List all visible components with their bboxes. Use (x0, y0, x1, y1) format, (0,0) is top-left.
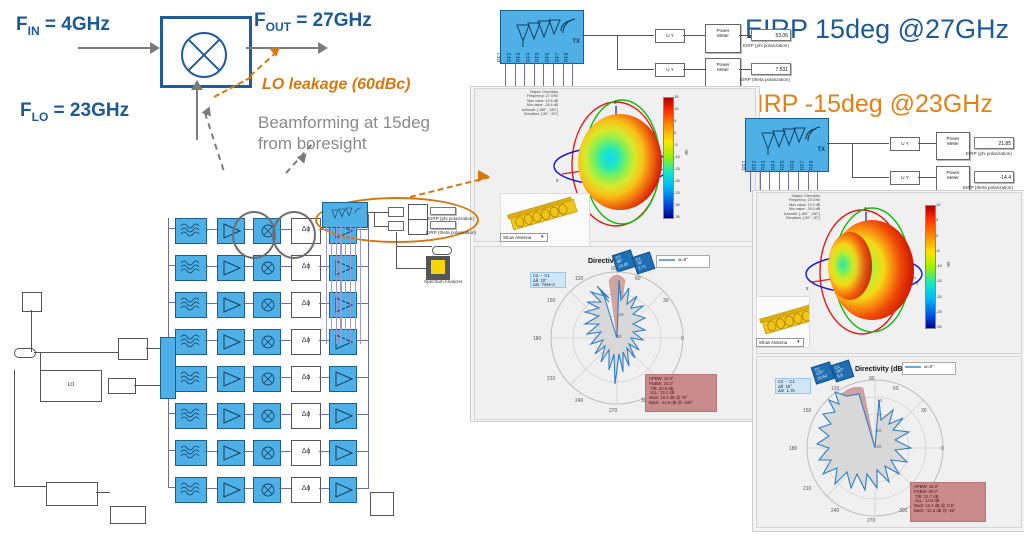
constant-block[interactable] (22, 292, 42, 312)
tx-port-rf7: RF7 (800, 161, 806, 170)
amplifier-block-row5[interactable] (217, 366, 245, 392)
wire-phase-amp2 (319, 377, 329, 378)
tx-port-rf2: RF2 (507, 53, 513, 62)
chevron-down-icon[interactable]: ▾ (541, 234, 544, 240)
svg-text:0: 0 (681, 336, 684, 342)
polar-legend-label-23: ø=0° (924, 364, 934, 369)
tx-port-rf6: RF6 (545, 53, 551, 62)
f-in-symbol: F (16, 14, 28, 35)
colorbar-tick: -5 (936, 248, 940, 253)
colorbar-tick: -15 (674, 166, 680, 171)
output-amplifier-row8[interactable] (329, 477, 357, 503)
power-meter-inline-2[interactable] (408, 219, 428, 235)
tx-port-rf8: RF8 (809, 161, 815, 170)
power-meter-label-2: Meter (706, 33, 740, 38)
wire-amp2-tx (355, 488, 369, 489)
tx-port-rf1: RF1 (497, 53, 503, 62)
wire-mixer-phase (279, 488, 291, 489)
tx-port-wire (779, 170, 780, 192)
tx-port-rf6: RF6 (790, 161, 796, 170)
wire-amp2-tx (355, 303, 369, 304)
eirp-display-inline-1 (430, 207, 456, 215)
filter-block-row1[interactable] (175, 218, 207, 244)
beamforming-note-line1: Beamforming at 15deg (258, 112, 430, 133)
filter-block-row4[interactable] (175, 329, 207, 355)
eirp-phi-display-23ghz: 21.85 (974, 137, 1014, 149)
phase-shifter-block-row8[interactable]: Δϕ (291, 477, 321, 503)
tx-inline-port-wire (326, 226, 327, 344)
demux-block[interactable] (160, 337, 176, 399)
wire-filter-amp (205, 303, 217, 304)
eirp-phi-caption-inline: EIRP (phi polarization) (428, 216, 474, 221)
svg-text:300: 300 (899, 508, 908, 514)
mixer-cross-circle-icon (181, 32, 227, 78)
wire-filter-amp (205, 377, 217, 378)
colorbar-tick: -30 (936, 324, 942, 329)
colorbar-tick: -10 (674, 154, 680, 159)
tx-port-wire (769, 170, 770, 192)
svg-text:90: 90 (611, 266, 617, 272)
wire-amp-mixer (243, 377, 253, 378)
lo-leakage-label: LO leakage (60dBc) (262, 76, 411, 94)
filter-block-row8[interactable] (175, 477, 207, 503)
f-out-arrow-head (318, 42, 328, 54)
tx-inline-port-wire (355, 226, 356, 344)
tx-input-ports: RF1RF2RF3RF4RF5RF6RF7RF8 (503, 42, 581, 62)
wire-phase-amp2 (319, 340, 329, 341)
wire-mixer-phase (279, 377, 291, 378)
svg-text:0: 0 (941, 446, 944, 452)
tx-port-rf3: RF3 (516, 53, 522, 62)
colorbar-unit-27: dBi (683, 150, 688, 156)
svg-text:60: 60 (893, 386, 899, 392)
f-in-label: FIN = 4GHz (16, 14, 110, 38)
wire-mixer-phase (279, 414, 291, 415)
colorbar-tick: 5 (674, 118, 676, 123)
output-amplifier-row6[interactable] (329, 403, 357, 429)
svg-text:180: 180 (789, 446, 798, 452)
mixer-block-row2[interactable] (253, 255, 281, 281)
svg-text:150: 150 (547, 298, 556, 304)
output-amplifier-row3[interactable] (329, 292, 357, 318)
svg-text:150: 150 (803, 408, 812, 414)
uy-selector-theta-23[interactable]: U Y (890, 171, 920, 185)
f-out-subscript: OUT (266, 20, 291, 34)
lo-source-label: LO (41, 382, 101, 388)
f-out-label: FOUT = 27GHz (254, 10, 372, 34)
eirp-theta-caption-inline: EIRP (theta polarization) (426, 230, 476, 235)
f-lo-arrow-line (196, 86, 198, 140)
f-lo-subscript: LO (32, 110, 49, 124)
wire-amp2-tx (355, 377, 369, 378)
polar-stats-27ghz: HPBW: 10.0° FNBW: 24.0° T/B: 20.5 dB SLL… (645, 374, 717, 412)
colorbar-tick: -25 (674, 190, 680, 195)
eirp-theta-display-23ghz: -14.4 (974, 171, 1014, 183)
tx-port-wire (750, 170, 751, 192)
spectrum-analyzer-label: Spectrum Analyzer (424, 279, 463, 284)
callout-arrow-to-panel (478, 170, 489, 182)
f-lo-symbol: F (20, 100, 32, 121)
lo-leakage-dash-2 (249, 51, 277, 77)
tx-port-rf5: RF5 (780, 161, 786, 170)
f-lo-label: FLO = 23GHz (20, 100, 129, 124)
filter-block-row3[interactable] (175, 292, 207, 318)
tx-out-branch (617, 35, 618, 69)
tx-input-ports: RF1RF2RF3RF4RF5RF6RF7RF8 (748, 150, 826, 170)
phase-shifter-label: Δϕ (292, 411, 320, 418)
tx-port-rf8: RF8 (564, 53, 570, 62)
tx-inline-port-wire (336, 226, 337, 344)
svg-text:270: 270 (867, 518, 876, 522)
svg-text:x: x (806, 286, 809, 292)
svg-text:-20: -20 (617, 312, 624, 317)
f-out-symbol: F (254, 10, 266, 31)
wire-amp-mixer (243, 266, 253, 267)
wire-phase-amp2 (319, 266, 329, 267)
svg-text:210: 210 (547, 376, 556, 382)
svg-text:120: 120 (831, 386, 840, 392)
wire-filter-amp (205, 266, 217, 267)
svg-text:-40: -40 (615, 334, 622, 339)
svg-text:240: 240 (575, 398, 584, 404)
tx-port-rf3: RF3 (761, 161, 767, 170)
wire-amp-mixer (243, 488, 253, 489)
amplifier-block-row7[interactable] (217, 440, 245, 466)
output-amplifier-row4[interactable] (329, 329, 357, 355)
mixer-block-row6[interactable] (253, 403, 281, 429)
terminator-block[interactable] (370, 492, 394, 516)
mixer-block-row8[interactable] (253, 477, 281, 503)
phase-shifter-label: Δϕ (292, 374, 320, 381)
phase-shifter-block-row3[interactable]: Δϕ (291, 292, 321, 318)
wire-phase-amp2 (319, 414, 329, 415)
svg-text:30: 30 (921, 408, 927, 414)
wire-filter-amp (205, 488, 217, 489)
wire-filter-amp (205, 414, 217, 415)
colorbar-tick: 10 (936, 202, 940, 207)
tx-port-wire (808, 170, 809, 192)
beamforming-note-line2: from boresight (258, 133, 430, 154)
colorbar-tick: 10 (674, 106, 678, 111)
phase-shifter-label: Δϕ (292, 485, 320, 492)
tx-port-rf1: RF1 (742, 161, 748, 170)
svg-text:180: 180 (533, 336, 542, 342)
wire-filter-amp (205, 340, 217, 341)
phase-shifter-block-row7[interactable]: Δϕ (291, 440, 321, 466)
antenna-geometry-icon (501, 194, 587, 236)
tx-inline-port-wire (331, 226, 332, 344)
wire-phase-amp2 (319, 451, 329, 452)
mixer-block-row7[interactable] (253, 440, 281, 466)
wire-amp2-tx (355, 451, 369, 452)
tx-inline-port-wire (345, 226, 346, 344)
svg-text:270: 270 (609, 408, 618, 414)
wire-filter-amp (205, 229, 217, 230)
antenna-geometry-icon (757, 297, 810, 339)
svg-text:120: 120 (575, 276, 584, 282)
wire-mixer-phase (279, 266, 291, 267)
wire-mixer-phase (279, 340, 291, 341)
wire-mixer-phase (279, 303, 291, 304)
tx-port-wire (788, 170, 789, 192)
svg-text:30: 30 (663, 298, 669, 304)
tx-port-rf7: RF7 (555, 53, 561, 62)
phase-shifter-label: Δϕ (292, 263, 320, 270)
amplifier-block-row6[interactable] (217, 403, 245, 429)
show-antenna-label: Show Antenna (759, 340, 787, 345)
tx-port-rf5: RF5 (535, 53, 541, 62)
output-amplifier-row2[interactable] (329, 255, 357, 281)
eirp-phi-caption-23: EIRP (phi polarization) (966, 151, 1012, 156)
phase-shifter-block-row5[interactable]: Δϕ (291, 366, 321, 392)
power-meter-inline-1[interactable] (408, 204, 428, 220)
wire-phase-amp2 (319, 303, 329, 304)
colorbar-tick: 15 (674, 94, 678, 99)
power-meter-label-2: Meter (706, 67, 740, 72)
amplifier-block-row8[interactable] (217, 477, 245, 503)
phase-shifter-label: Δϕ (292, 448, 320, 455)
colorbar-27ghz (663, 97, 674, 219)
tx-port-rf2: RF2 (752, 161, 758, 170)
tx-block-inline[interactable] (322, 202, 368, 228)
svg-text:240: 240 (831, 508, 840, 514)
colorbar-tick: 0 (936, 233, 938, 238)
colorbar-tick: -30 (674, 202, 680, 207)
filter-block-row2[interactable] (175, 255, 207, 281)
power-meter-label-2: Meter (937, 175, 969, 180)
phase-shifter-block-row6[interactable]: Δϕ (291, 403, 321, 429)
f-lo-value: = 23GHz (48, 100, 129, 121)
output-amplifier-row5[interactable] (329, 366, 357, 392)
tx-out-wire-2 (617, 69, 654, 70)
f-in-arrow-head (150, 42, 160, 54)
phase-shifter-label: Δϕ (292, 337, 320, 344)
polar-stats-23ghz: HPBW: 16.0° FNBW: 60.0° T/B: 22.7 dB SLL… (910, 482, 986, 522)
uy-selector-theta-27[interactable]: U Y (655, 63, 685, 77)
eirp-theta-display-27ghz: 7.531 (751, 63, 791, 75)
f-in-value: = 4GHz (40, 14, 110, 35)
wire-filter-amp (205, 451, 217, 452)
amplifier-block-row4[interactable] (217, 329, 245, 355)
antenna-array-icon (325, 204, 369, 222)
uy-selector-phi-27[interactable]: U Y (655, 29, 685, 43)
svg-text:10: 10 (877, 398, 883, 403)
svg-text:60: 60 (635, 276, 641, 282)
wire-amp-mixer (243, 451, 253, 452)
wire-amp-mixer (243, 340, 253, 341)
uy-selector-inline-2[interactable] (388, 221, 404, 231)
filter-block-row5[interactable] (175, 366, 207, 392)
gain-block[interactable] (110, 506, 146, 524)
chevron-down-icon[interactable]: ▾ (797, 339, 800, 345)
colorbar-23ghz (925, 205, 936, 329)
mixer-block-row3[interactable] (253, 292, 281, 318)
power-meter-phi-27[interactable]: Power Meter (705, 24, 741, 53)
f-lo-arrow-head (191, 80, 203, 90)
tx-port-rf4: RF4 (526, 53, 532, 62)
svg-text:-20: -20 (875, 444, 882, 449)
colorbar-tick: -20 (936, 294, 942, 299)
svg-text:210: 210 (803, 486, 812, 492)
wire-phase-amp2 (319, 488, 329, 489)
wire-amp-mixer (243, 414, 253, 415)
f-in-subscript: IN (28, 24, 40, 38)
wire-mixer-phase (279, 451, 291, 452)
colorbar-tick: -10 (936, 263, 942, 268)
colorbar-tick: 0 (674, 130, 676, 135)
wire-amp2-tx (355, 340, 369, 341)
beamforming-note: Beamforming at 15deg from boresight (258, 112, 430, 154)
aux-block[interactable] (108, 378, 136, 394)
f-out-value: = 27GHz (291, 10, 372, 31)
eirp-display-inline-2 (430, 221, 456, 229)
svg-text:90: 90 (869, 376, 875, 382)
tx-inline-port-wire (340, 226, 341, 344)
svg-text:x: x (556, 178, 559, 184)
colorbar-tick: -20 (674, 178, 680, 183)
tx-antenna-block-23ghz[interactable]: TX RF1RF2RF3RF4RF5RF6RF7RF8 (745, 118, 829, 172)
colorbar-tick: -25 (936, 309, 942, 314)
power-meter-theta-27[interactable]: Power Meter (705, 58, 741, 87)
eirp-theta-caption-27: EIRP (theta polarization) (740, 77, 790, 82)
uy-selector-phi-23[interactable]: U Y (890, 137, 920, 151)
tx-port-wire (798, 170, 799, 192)
wire-amp-mixer (243, 303, 253, 304)
colorbar-tick: -35 (674, 214, 680, 219)
tx-port-wire (760, 170, 761, 192)
eirp-phi-display-27ghz: 53.06 (751, 29, 791, 41)
tx-inline-port-wire (350, 226, 351, 344)
mixer-block-row5[interactable] (253, 366, 281, 392)
colorbar-tick: 5 (936, 217, 938, 222)
f-out-arrow-line (246, 47, 322, 49)
tx-out-wire (582, 35, 654, 36)
output-port-inline[interactable] (432, 246, 452, 255)
mixer-block-row4[interactable] (253, 329, 281, 355)
filter-block-row6[interactable] (175, 403, 207, 429)
eirp-phi-caption-27: EIRP (phi polarization) (743, 43, 789, 48)
phase-shifter-block-row4[interactable]: Δϕ (291, 329, 321, 355)
svg-text:-10: -10 (875, 428, 882, 433)
uy-selector-inline-1[interactable] (388, 207, 404, 217)
power-meter-label-2: Meter (937, 141, 969, 146)
spectrum-analyzer-block[interactable] (426, 256, 450, 280)
highlight-ellipse-phase (272, 211, 316, 259)
tx-antenna-block-27ghz[interactable]: TX RF1RF2RF3RF4RF5RF6RF7RF8 (500, 10, 584, 64)
wire-riser-row8 (368, 214, 369, 488)
colorbar-tick: -5 (674, 142, 678, 147)
pointer-dash-lo (204, 113, 224, 171)
output-amplifier-row7[interactable] (329, 440, 357, 466)
switch-block[interactable] (118, 338, 148, 360)
amplifier-block-row2[interactable] (217, 255, 245, 281)
tx-port-wire (817, 170, 818, 192)
colorbar-tick: -15 (936, 278, 942, 283)
source-port-block[interactable] (14, 348, 36, 358)
wire-amp2-tx (355, 414, 369, 415)
lo-source-block[interactable]: LO (40, 370, 102, 402)
power-meter-phi-23[interactable]: Power Meter (936, 132, 970, 160)
f-in-arrow-line (78, 47, 152, 49)
highlight-ellipse-mixer (232, 211, 276, 259)
phase-shifter-label: Δϕ (292, 300, 320, 307)
show-antenna-label: Show Antenna (503, 235, 531, 240)
feedback-block[interactable] (46, 482, 98, 506)
wire-amp2-tx (355, 266, 369, 267)
tx-inline-port-wire (360, 226, 361, 344)
eirp-heading-23ghz: EIRP -15deg @23GHz (740, 90, 993, 119)
colorbar-unit-23: dBi (945, 262, 950, 268)
filter-block-row7[interactable] (175, 440, 207, 466)
tx-port-rf4: RF4 (771, 161, 777, 170)
amplifier-block-row3[interactable] (217, 292, 245, 318)
